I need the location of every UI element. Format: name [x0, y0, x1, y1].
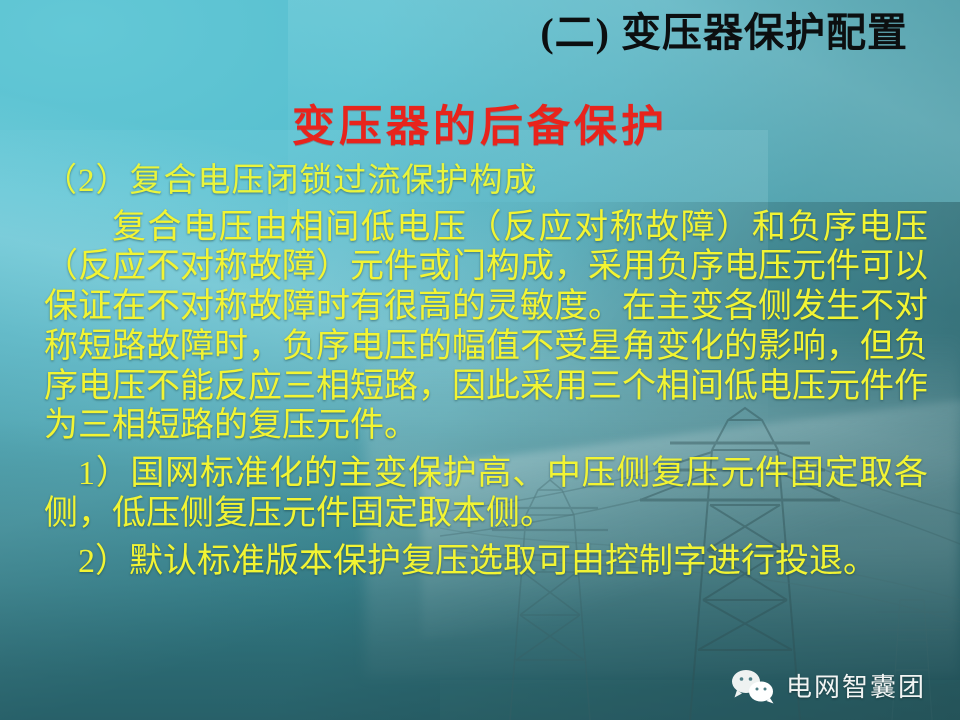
wechat-icon: [730, 668, 776, 704]
body-content: （2）复合电压闭锁过流保护构成 复合电压由相间低电压（反应对称故障）和负序电压（…: [44, 160, 928, 581]
watermark: 电网智囊团: [730, 667, 926, 704]
paragraph-item-2: 2）默认标准版本保护复压选取可由控制字进行投退。: [44, 542, 928, 582]
slide-canvas: (二) 变压器保护配置 变压器的后备保护 （2）复合电压闭锁过流保护构成 复合电…: [0, 0, 960, 720]
section-label: （2）复合电压闭锁过流保护构成: [44, 160, 928, 204]
paragraph-item-1: 1）国网标准化的主变保护高、中压侧复压元件固定取各侧，低压侧复压元件固定取本侧。: [44, 454, 928, 534]
page-title: 变压器的后备保护: [0, 92, 960, 154]
header-title: (二) 变压器保护配置: [540, 10, 908, 56]
paragraph-main: 复合电压由相间低电压（反应对称故障）和负序电压（反应不对称故障）元件或门构成，采…: [44, 208, 928, 447]
watermark-label: 电网智囊团: [786, 667, 926, 704]
